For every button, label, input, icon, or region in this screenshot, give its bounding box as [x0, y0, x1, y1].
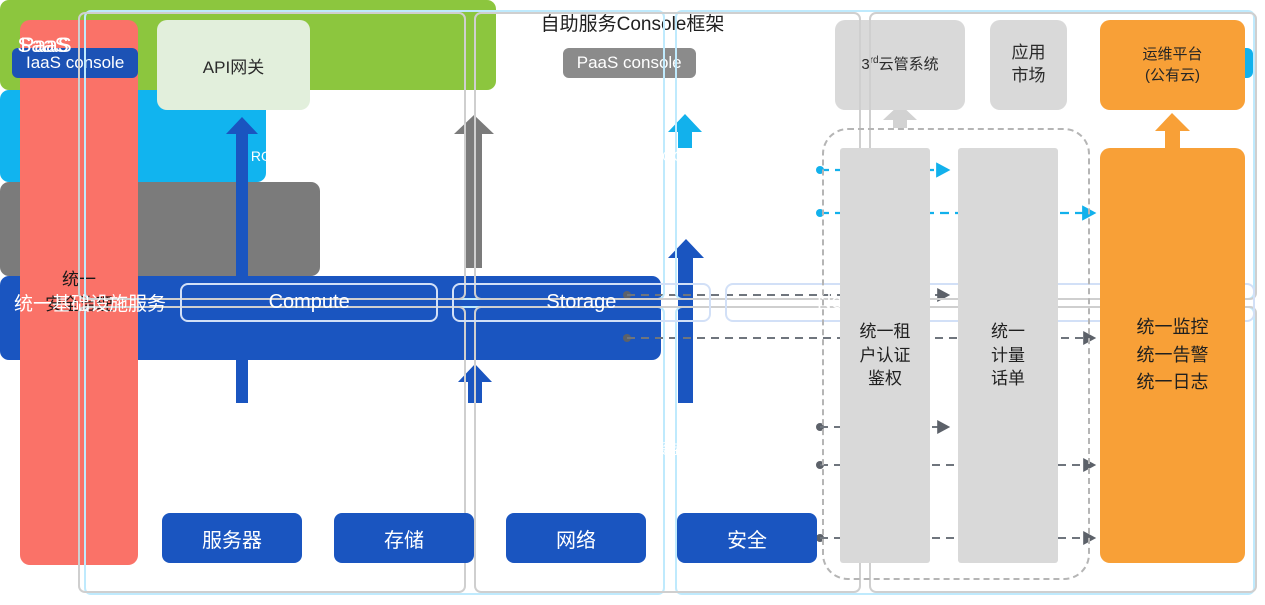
hardware-storage-label: 存储	[384, 524, 424, 553]
tenant-auth-line-3: 鉴权	[860, 367, 911, 391]
metering-line-1: 统一	[991, 320, 1025, 344]
hardware-storage-box[interactable]: 存储	[334, 513, 474, 563]
hardware-security-box[interactable]: 安全	[677, 513, 817, 563]
hardware-network-label: 网络	[556, 524, 596, 553]
hardware-server-label: 服务器	[202, 524, 262, 553]
metering-line-3: 话单	[991, 367, 1025, 391]
tenant-auth-line-1: 统一租	[860, 320, 911, 344]
unified-metering-billing-column[interactable]: 统一 计量 话单	[958, 148, 1058, 563]
architecture-diagram: 统一 安全治理 API网关 自助服务Console框架 IaaS console…	[0, 0, 1265, 605]
unified-monitoring-alarm-log-column[interactable]: 统一监控 统一告警 统一日志	[1100, 148, 1245, 563]
infra-service-compute[interactable]: Compute	[180, 283, 438, 322]
unified-infrastructure-service-panel[interactable]: 统一基础设施服务 Compute Storage Network CCE	[0, 276, 661, 360]
hardware-security-label: 安全	[727, 524, 767, 553]
unified-tenant-auth-column[interactable]: 统一租 户认证 鉴权	[840, 148, 930, 563]
hardware-network-box[interactable]: 网络	[506, 513, 646, 563]
infra-service-storage[interactable]: Storage	[452, 283, 710, 322]
ops-column-line-2: 统一告警	[1137, 342, 1209, 370]
tenant-auth-line-2: 户认证	[860, 344, 911, 368]
hardware-server-box[interactable]: 服务器	[162, 513, 302, 563]
infrastructure-label: 统一基础设施服务	[14, 289, 166, 316]
metering-line-2: 计量	[991, 344, 1025, 368]
ops-column-line-3: 统一日志	[1137, 369, 1209, 397]
ops-column-line-1: 统一监控	[1137, 314, 1209, 342]
